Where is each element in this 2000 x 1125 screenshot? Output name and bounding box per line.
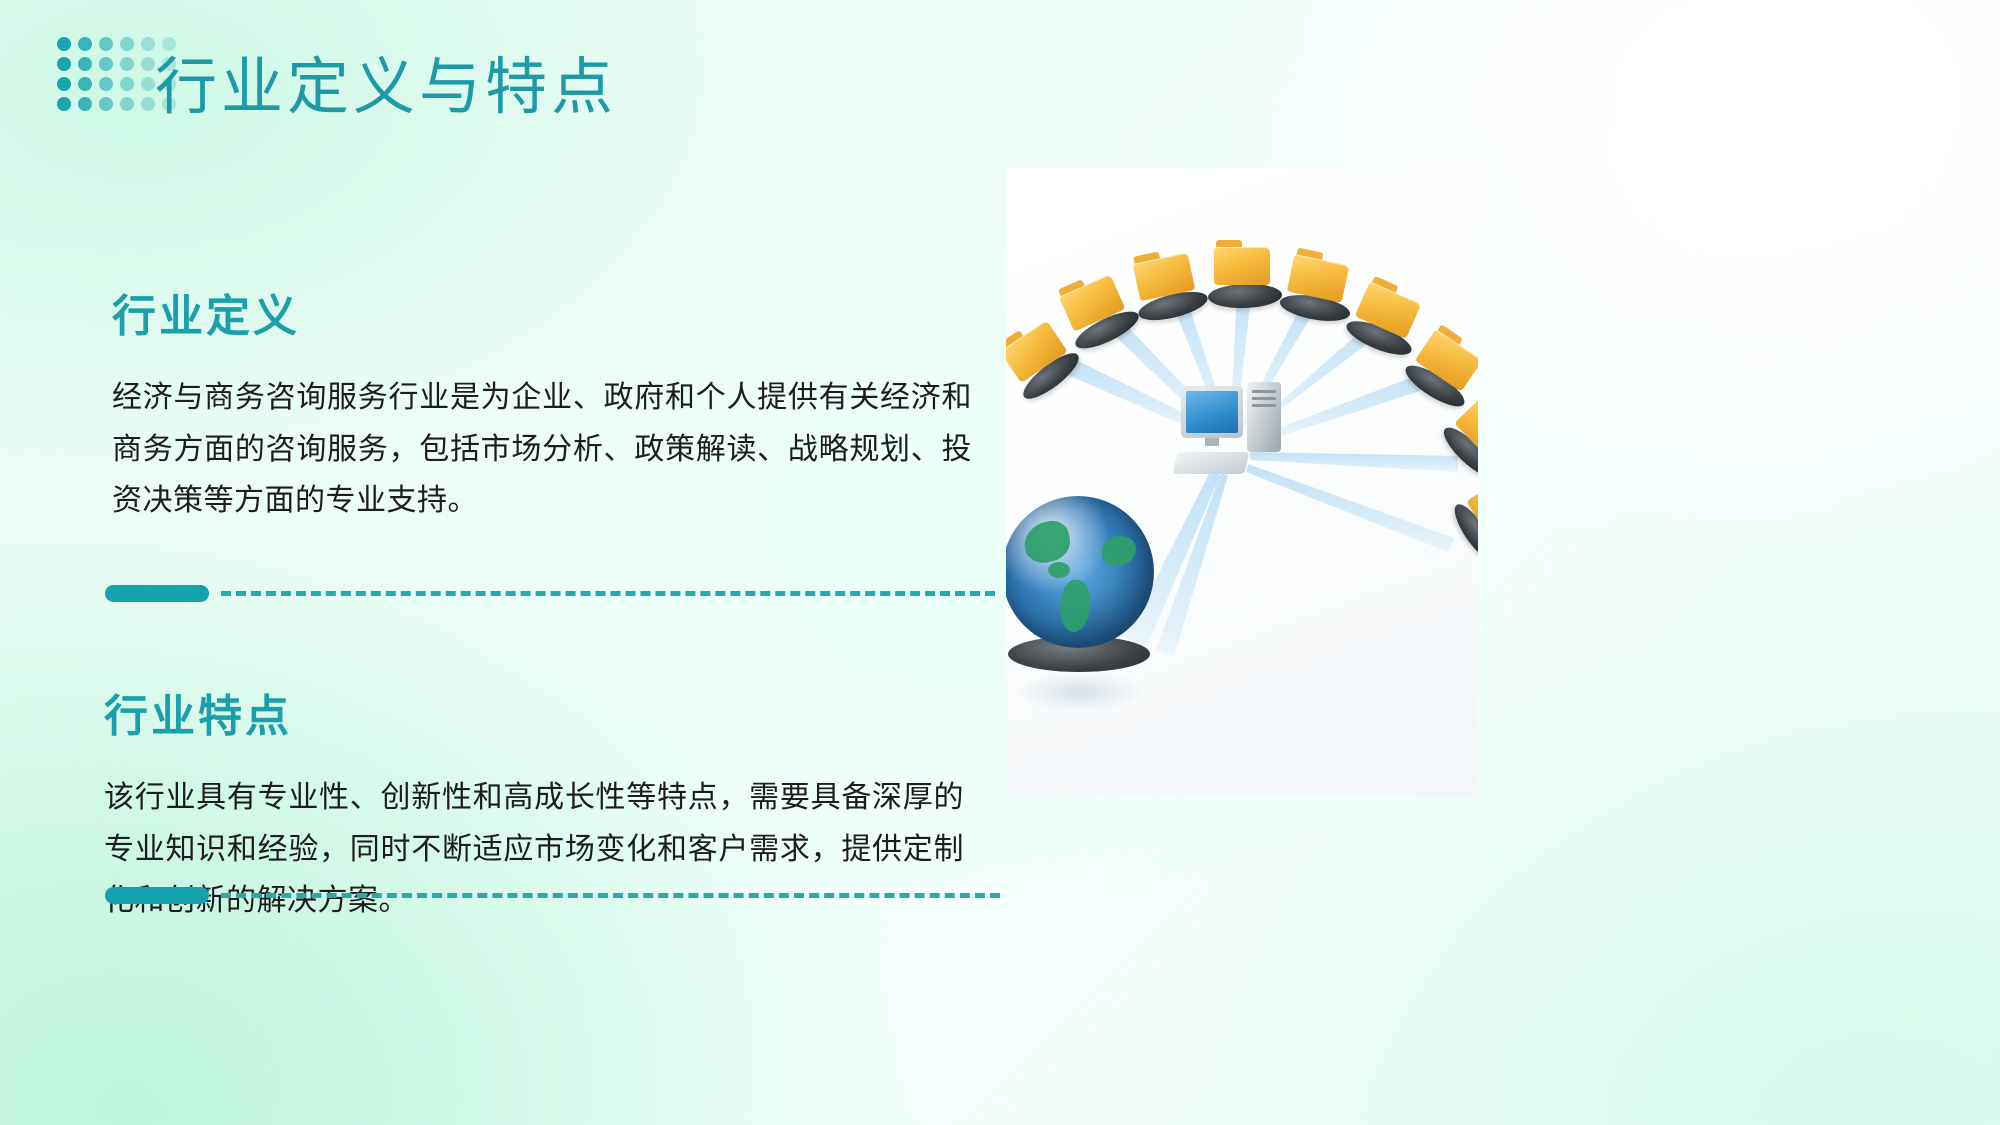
- divider-dashed-line: [221, 591, 995, 596]
- keyboard-icon: [1172, 452, 1249, 474]
- illustration-scene: [1006, 168, 1478, 796]
- globe-reflection: [1016, 672, 1144, 712]
- globe-sphere: [1006, 496, 1154, 648]
- section-heading-definition: 行业定义: [112, 280, 1000, 344]
- monitor-icon: [1181, 386, 1243, 438]
- divider-pill: [105, 887, 209, 904]
- divider-definition: [105, 583, 995, 603]
- folder-icon: [1214, 240, 1272, 286]
- divider-features: [105, 885, 1000, 905]
- section-body-definition: 经济与商务咨询服务行业是为企业、政府和个人提供有关经济和商务方面的咨询服务，包括…: [112, 372, 972, 527]
- monitor-screen: [1186, 391, 1238, 433]
- computer-tower: [1247, 382, 1281, 452]
- network-globe-folders-image: [1006, 168, 1478, 796]
- divider-pill: [105, 585, 209, 602]
- slide-content: 行业定义 经济与商务咨询服务行业是为企业、政府和个人提供有关经济和商务方面的咨询…: [0, 0, 1000, 1125]
- monitor-stand: [1205, 438, 1219, 446]
- section-heading-features: 行业特点: [104, 680, 1000, 744]
- divider-dashed-line: [221, 893, 1000, 898]
- section-industry-definition: 行业定义 经济与商务咨询服务行业是为企业、政府和个人提供有关经济和商务方面的咨询…: [0, 280, 1000, 527]
